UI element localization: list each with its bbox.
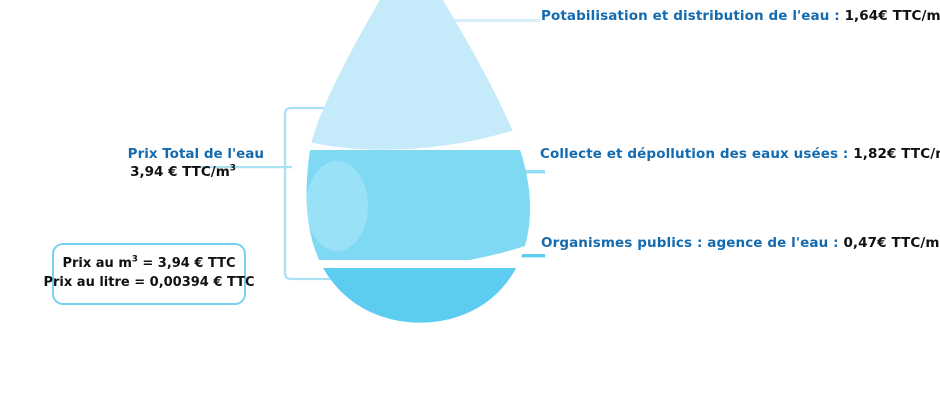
summary-box: Prix au m3 = 3,94 € TTC Prix au litre = … xyxy=(52,243,246,305)
callout-organismes-value: 0,47€ TTC/m3 xyxy=(843,235,940,251)
callout-organismes-category: Organismes publics : agence de l'eau : xyxy=(541,235,843,251)
callout-collecte-value: 1,82€ TTC/m3 xyxy=(853,146,940,162)
total-price-label: Prix Total de l'eau 3,94 € TTC/m3 xyxy=(60,145,264,181)
callout-potabilisation-value: 1,64€ TTC/m3 xyxy=(845,8,940,24)
infographic-canvas: Potabilisation et distribution de l'eau … xyxy=(0,0,940,400)
total-price-value: 3,94 € TTC/m3 xyxy=(60,163,264,181)
drop-segment-potabilisation xyxy=(280,0,560,150)
callout-collecte: Collecte et dépollution des eaux usées :… xyxy=(540,148,940,162)
water-drop-icon xyxy=(280,0,560,388)
callout-potabilisation: Potabilisation et distribution de l'eau … xyxy=(541,10,940,24)
water-price-diagram xyxy=(0,0,940,400)
summary-line-litre: Prix au litre = 0,00394 € TTC xyxy=(43,274,254,293)
callout-organismes: Organismes publics : agence de l'eau : 0… xyxy=(541,237,940,251)
drop-segment-organismes xyxy=(280,268,560,388)
drop-highlight xyxy=(306,161,368,251)
total-price-title: Prix Total de l'eau xyxy=(60,145,264,163)
callout-potabilisation-category: Potabilisation et distribution de l'eau … xyxy=(541,8,845,24)
summary-line-cubic-meter: Prix au m3 = 3,94 € TTC xyxy=(62,255,235,274)
callout-collecte-category: Collecte et dépollution des eaux usées : xyxy=(540,146,853,162)
